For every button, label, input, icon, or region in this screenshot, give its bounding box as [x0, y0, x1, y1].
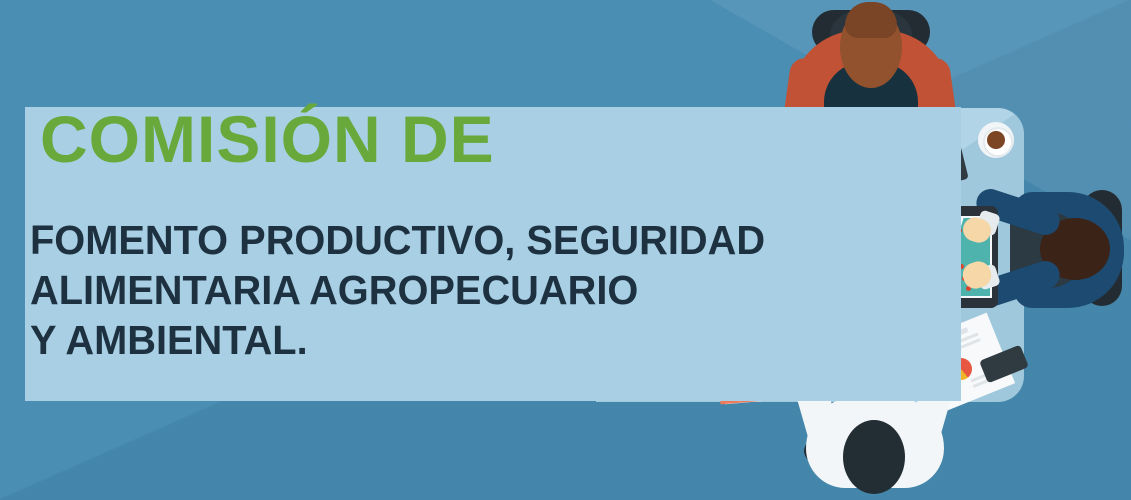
subtitle-line-1: FOMENTO PRODUCTIVO, SEGURIDAD: [30, 215, 961, 265]
coffee-liquid-right: [987, 131, 1005, 149]
banner-image: COMISIÓN DE FOMENTO PRODUCTIVO, SEGURIDA…: [0, 0, 1131, 500]
subtitle-line-3: Y AMBIENTAL.: [30, 315, 961, 365]
subtitle-line-2: ALIMENTARIA AGROPECUARIO: [30, 265, 961, 315]
page-title: COMISIÓN DE: [40, 106, 495, 172]
person-top-hair: [845, 2, 897, 38]
page-subtitle: FOMENTO PRODUCTIVO, SEGURIDAD ALIMENTARI…: [30, 215, 990, 365]
person-bottom-head: [843, 420, 905, 494]
